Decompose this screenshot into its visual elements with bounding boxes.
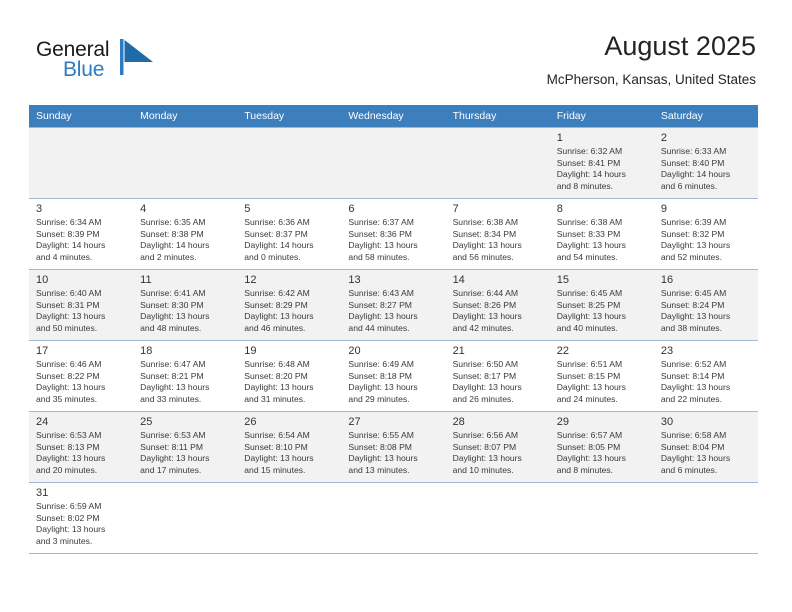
day-cell-content <box>654 483 758 553</box>
calendar-day-cell[interactable]: 25Sunrise: 6:53 AM Sunset: 8:11 PM Dayli… <box>133 412 237 483</box>
day-number: 27 <box>348 415 439 429</box>
day-number: 22 <box>557 344 648 358</box>
calendar-empty-cell <box>341 128 445 199</box>
day-cell-content: 14Sunrise: 6:44 AM Sunset: 8:26 PM Dayli… <box>446 270 550 340</box>
day-number: 7 <box>453 202 544 216</box>
day-cell-content: 17Sunrise: 6:46 AM Sunset: 8:22 PM Dayli… <box>29 341 133 411</box>
day-cell-content: 28Sunrise: 6:56 AM Sunset: 8:07 PM Dayli… <box>446 412 550 482</box>
day-number: 3 <box>36 202 127 216</box>
day-number: 20 <box>348 344 439 358</box>
weekday-header-tuesday: Tuesday <box>237 105 341 128</box>
day-cell-content: 29Sunrise: 6:57 AM Sunset: 8:05 PM Dayli… <box>550 412 654 482</box>
day-cell-content: 10Sunrise: 6:40 AM Sunset: 8:31 PM Dayli… <box>29 270 133 340</box>
day-cell-content <box>446 483 550 553</box>
day-number: 29 <box>557 415 648 429</box>
calendar-day-cell[interactable]: 31Sunrise: 6:59 AM Sunset: 8:02 PM Dayli… <box>29 483 133 554</box>
day-sun-times: Sunrise: 6:39 AM Sunset: 8:32 PM Dayligh… <box>661 217 752 263</box>
day-cell-content <box>133 483 237 553</box>
day-cell-content: 27Sunrise: 6:55 AM Sunset: 8:08 PM Dayli… <box>341 412 445 482</box>
calendar-day-cell[interactable]: 6Sunrise: 6:37 AM Sunset: 8:36 PM Daylig… <box>341 199 445 270</box>
calendar-empty-cell <box>550 483 654 554</box>
day-number: 18 <box>140 344 231 358</box>
calendar-page: General Blue August 2025 McPherson, Kans… <box>0 0 792 612</box>
day-number: 21 <box>453 344 544 358</box>
calendar-day-cell[interactable]: 13Sunrise: 6:43 AM Sunset: 8:27 PM Dayli… <box>341 270 445 341</box>
calendar-day-cell[interactable]: 24Sunrise: 6:53 AM Sunset: 8:13 PM Dayli… <box>29 412 133 483</box>
day-sun-times: Sunrise: 6:49 AM Sunset: 8:18 PM Dayligh… <box>348 359 439 405</box>
day-cell-content: 31Sunrise: 6:59 AM Sunset: 8:02 PM Dayli… <box>29 483 133 553</box>
calendar-day-cell[interactable]: 29Sunrise: 6:57 AM Sunset: 8:05 PM Dayli… <box>550 412 654 483</box>
day-sun-times: Sunrise: 6:43 AM Sunset: 8:27 PM Dayligh… <box>348 288 439 334</box>
day-cell-content: 24Sunrise: 6:53 AM Sunset: 8:13 PM Dayli… <box>29 412 133 482</box>
day-sun-times: Sunrise: 6:58 AM Sunset: 8:04 PM Dayligh… <box>661 430 752 476</box>
day-sun-times: Sunrise: 6:38 AM Sunset: 8:33 PM Dayligh… <box>557 217 648 263</box>
day-cell-content: 26Sunrise: 6:54 AM Sunset: 8:10 PM Dayli… <box>237 412 341 482</box>
day-cell-content <box>446 128 550 198</box>
calendar-day-cell[interactable]: 2Sunrise: 6:33 AM Sunset: 8:40 PM Daylig… <box>654 128 758 199</box>
day-sun-times: Sunrise: 6:54 AM Sunset: 8:10 PM Dayligh… <box>244 430 335 476</box>
day-cell-content <box>237 483 341 553</box>
day-sun-times: Sunrise: 6:56 AM Sunset: 8:07 PM Dayligh… <box>453 430 544 476</box>
day-number: 16 <box>661 273 752 287</box>
day-sun-times: Sunrise: 6:55 AM Sunset: 8:08 PM Dayligh… <box>348 430 439 476</box>
calendar-day-cell[interactable]: 10Sunrise: 6:40 AM Sunset: 8:31 PM Dayli… <box>29 270 133 341</box>
day-number: 23 <box>661 344 752 358</box>
calendar-empty-cell <box>133 128 237 199</box>
day-number: 28 <box>453 415 544 429</box>
page-subtitle: McPherson, Kansas, United States <box>547 70 756 90</box>
day-cell-content: 16Sunrise: 6:45 AM Sunset: 8:24 PM Dayli… <box>654 270 758 340</box>
day-cell-content <box>237 128 341 198</box>
day-cell-content: 13Sunrise: 6:43 AM Sunset: 8:27 PM Dayli… <box>341 270 445 340</box>
calendar-day-cell[interactable]: 11Sunrise: 6:41 AM Sunset: 8:30 PM Dayli… <box>133 270 237 341</box>
day-number: 8 <box>557 202 648 216</box>
page-header: General Blue August 2025 McPherson, Kans… <box>36 30 756 100</box>
day-cell-content: 3Sunrise: 6:34 AM Sunset: 8:39 PM Daylig… <box>29 199 133 269</box>
calendar-day-cell[interactable]: 15Sunrise: 6:45 AM Sunset: 8:25 PM Dayli… <box>550 270 654 341</box>
day-number: 26 <box>244 415 335 429</box>
calendar-empty-cell <box>133 483 237 554</box>
day-cell-content: 19Sunrise: 6:48 AM Sunset: 8:20 PM Dayli… <box>237 341 341 411</box>
calendar-week-row: 17Sunrise: 6:46 AM Sunset: 8:22 PM Dayli… <box>29 341 758 412</box>
day-cell-content: 30Sunrise: 6:58 AM Sunset: 8:04 PM Dayli… <box>654 412 758 482</box>
calendar-day-cell[interactable]: 3Sunrise: 6:34 AM Sunset: 8:39 PM Daylig… <box>29 199 133 270</box>
day-cell-content: 1Sunrise: 6:32 AM Sunset: 8:41 PM Daylig… <box>550 128 654 198</box>
day-sun-times: Sunrise: 6:45 AM Sunset: 8:25 PM Dayligh… <box>557 288 648 334</box>
calendar-empty-cell <box>446 483 550 554</box>
calendar-day-cell[interactable]: 1Sunrise: 6:32 AM Sunset: 8:41 PM Daylig… <box>550 128 654 199</box>
calendar-day-cell[interactable]: 14Sunrise: 6:44 AM Sunset: 8:26 PM Dayli… <box>446 270 550 341</box>
calendar-empty-cell <box>237 128 341 199</box>
day-number: 19 <box>244 344 335 358</box>
day-number: 5 <box>244 202 335 216</box>
calendar-week-row: 24Sunrise: 6:53 AM Sunset: 8:13 PM Dayli… <box>29 412 758 483</box>
day-sun-times: Sunrise: 6:37 AM Sunset: 8:36 PM Dayligh… <box>348 217 439 263</box>
day-sun-times: Sunrise: 6:53 AM Sunset: 8:13 PM Dayligh… <box>36 430 127 476</box>
day-sun-times: Sunrise: 6:40 AM Sunset: 8:31 PM Dayligh… <box>36 288 127 334</box>
day-sun-times: Sunrise: 6:50 AM Sunset: 8:17 PM Dayligh… <box>453 359 544 405</box>
calendar-week-row: 10Sunrise: 6:40 AM Sunset: 8:31 PM Dayli… <box>29 270 758 341</box>
day-number: 1 <box>557 131 648 145</box>
day-number: 4 <box>140 202 231 216</box>
day-sun-times: Sunrise: 6:59 AM Sunset: 8:02 PM Dayligh… <box>36 501 127 547</box>
day-cell-content: 23Sunrise: 6:52 AM Sunset: 8:14 PM Dayli… <box>654 341 758 411</box>
weekday-header-friday: Friday <box>550 105 654 128</box>
page-title: August 2025 <box>547 30 756 62</box>
calendar-day-cell[interactable]: 4Sunrise: 6:35 AM Sunset: 8:38 PM Daylig… <box>133 199 237 270</box>
weekday-header-monday: Monday <box>133 105 237 128</box>
day-sun-times: Sunrise: 6:42 AM Sunset: 8:29 PM Dayligh… <box>244 288 335 334</box>
day-cell-content: 12Sunrise: 6:42 AM Sunset: 8:29 PM Dayli… <box>237 270 341 340</box>
day-number: 13 <box>348 273 439 287</box>
title-block: August 2025 McPherson, Kansas, United St… <box>547 30 756 90</box>
calendar-day-cell[interactable]: 17Sunrise: 6:46 AM Sunset: 8:22 PM Dayli… <box>29 341 133 412</box>
calendar-day-cell[interactable]: 23Sunrise: 6:52 AM Sunset: 8:14 PM Dayli… <box>654 341 758 412</box>
day-cell-content: 5Sunrise: 6:36 AM Sunset: 8:37 PM Daylig… <box>237 199 341 269</box>
day-cell-content <box>29 128 133 198</box>
day-cell-content: 11Sunrise: 6:41 AM Sunset: 8:30 PM Dayli… <box>133 270 237 340</box>
calendar-empty-cell <box>654 483 758 554</box>
calendar-day-cell[interactable]: 5Sunrise: 6:36 AM Sunset: 8:37 PM Daylig… <box>237 199 341 270</box>
day-cell-content: 25Sunrise: 6:53 AM Sunset: 8:11 PM Dayli… <box>133 412 237 482</box>
calendar-empty-cell <box>446 128 550 199</box>
calendar-day-cell[interactable]: 7Sunrise: 6:38 AM Sunset: 8:34 PM Daylig… <box>446 199 550 270</box>
day-number: 17 <box>36 344 127 358</box>
calendar-empty-cell <box>341 483 445 554</box>
day-number: 10 <box>36 273 127 287</box>
day-number: 9 <box>661 202 752 216</box>
day-sun-times: Sunrise: 6:38 AM Sunset: 8:34 PM Dayligh… <box>453 217 544 263</box>
calendar-header-row: Sunday Monday Tuesday Wednesday Thursday… <box>29 105 758 128</box>
weekday-header-saturday: Saturday <box>654 105 758 128</box>
day-cell-content: 21Sunrise: 6:50 AM Sunset: 8:17 PM Dayli… <box>446 341 550 411</box>
day-sun-times: Sunrise: 6:41 AM Sunset: 8:30 PM Dayligh… <box>140 288 231 334</box>
calendar-day-cell[interactable]: 22Sunrise: 6:51 AM Sunset: 8:15 PM Dayli… <box>550 341 654 412</box>
day-sun-times: Sunrise: 6:36 AM Sunset: 8:37 PM Dayligh… <box>244 217 335 263</box>
day-number: 14 <box>453 273 544 287</box>
day-sun-times: Sunrise: 6:35 AM Sunset: 8:38 PM Dayligh… <box>140 217 231 263</box>
sun-times-calendar: Sunday Monday Tuesday Wednesday Thursday… <box>29 105 758 554</box>
calendar-empty-cell <box>237 483 341 554</box>
logo-text-blue: Blue <box>63 58 104 82</box>
day-cell-content <box>341 128 445 198</box>
calendar-week-row: 3Sunrise: 6:34 AM Sunset: 8:39 PM Daylig… <box>29 199 758 270</box>
weekday-header-thursday: Thursday <box>446 105 550 128</box>
calendar-day-cell[interactable]: 16Sunrise: 6:45 AM Sunset: 8:24 PM Dayli… <box>654 270 758 341</box>
day-sun-times: Sunrise: 6:33 AM Sunset: 8:40 PM Dayligh… <box>661 146 752 192</box>
day-number: 12 <box>244 273 335 287</box>
day-number: 11 <box>140 273 231 287</box>
day-sun-times: Sunrise: 6:47 AM Sunset: 8:21 PM Dayligh… <box>140 359 231 405</box>
calendar-day-cell[interactable]: 21Sunrise: 6:50 AM Sunset: 8:17 PM Dayli… <box>446 341 550 412</box>
day-sun-times: Sunrise: 6:32 AM Sunset: 8:41 PM Dayligh… <box>557 146 648 192</box>
calendar-week-row: 31Sunrise: 6:59 AM Sunset: 8:02 PM Dayli… <box>29 483 758 554</box>
day-number: 15 <box>557 273 648 287</box>
day-sun-times: Sunrise: 6:34 AM Sunset: 8:39 PM Dayligh… <box>36 217 127 263</box>
calendar-day-cell[interactable]: 26Sunrise: 6:54 AM Sunset: 8:10 PM Dayli… <box>237 412 341 483</box>
blue-flag-triangle-icon <box>120 39 154 75</box>
day-number: 30 <box>661 415 752 429</box>
day-sun-times: Sunrise: 6:45 AM Sunset: 8:24 PM Dayligh… <box>661 288 752 334</box>
day-sun-times: Sunrise: 6:51 AM Sunset: 8:15 PM Dayligh… <box>557 359 648 405</box>
day-cell-content: 9Sunrise: 6:39 AM Sunset: 8:32 PM Daylig… <box>654 199 758 269</box>
weekday-header-wednesday: Wednesday <box>341 105 445 128</box>
general-blue-logo[interactable]: General Blue <box>36 38 166 86</box>
weekday-header-sunday: Sunday <box>29 105 133 128</box>
calendar-empty-cell <box>29 128 133 199</box>
day-number: 24 <box>36 415 127 429</box>
day-sun-times: Sunrise: 6:44 AM Sunset: 8:26 PM Dayligh… <box>453 288 544 334</box>
day-cell-content: 15Sunrise: 6:45 AM Sunset: 8:25 PM Dayli… <box>550 270 654 340</box>
day-cell-content: 4Sunrise: 6:35 AM Sunset: 8:38 PM Daylig… <box>133 199 237 269</box>
calendar-week-row: 1Sunrise: 6:32 AM Sunset: 8:41 PM Daylig… <box>29 128 758 199</box>
calendar-day-cell[interactable]: 19Sunrise: 6:48 AM Sunset: 8:20 PM Dayli… <box>237 341 341 412</box>
day-cell-content: 2Sunrise: 6:33 AM Sunset: 8:40 PM Daylig… <box>654 128 758 198</box>
day-cell-content <box>133 128 237 198</box>
day-sun-times: Sunrise: 6:57 AM Sunset: 8:05 PM Dayligh… <box>557 430 648 476</box>
day-sun-times: Sunrise: 6:48 AM Sunset: 8:20 PM Dayligh… <box>244 359 335 405</box>
day-sun-times: Sunrise: 6:52 AM Sunset: 8:14 PM Dayligh… <box>661 359 752 405</box>
day-number: 31 <box>36 486 127 500</box>
day-number: 6 <box>348 202 439 216</box>
day-sun-times: Sunrise: 6:53 AM Sunset: 8:11 PM Dayligh… <box>140 430 231 476</box>
calendar-day-cell[interactable]: 27Sunrise: 6:55 AM Sunset: 8:08 PM Dayli… <box>341 412 445 483</box>
calendar-day-cell[interactable]: 12Sunrise: 6:42 AM Sunset: 8:29 PM Dayli… <box>237 270 341 341</box>
day-cell-content <box>341 483 445 553</box>
calendar-day-cell[interactable]: 8Sunrise: 6:38 AM Sunset: 8:33 PM Daylig… <box>550 199 654 270</box>
day-cell-content: 8Sunrise: 6:38 AM Sunset: 8:33 PM Daylig… <box>550 199 654 269</box>
day-number: 2 <box>661 131 752 145</box>
day-cell-content: 22Sunrise: 6:51 AM Sunset: 8:15 PM Dayli… <box>550 341 654 411</box>
day-cell-content: 6Sunrise: 6:37 AM Sunset: 8:36 PM Daylig… <box>341 199 445 269</box>
calendar-day-cell[interactable]: 20Sunrise: 6:49 AM Sunset: 8:18 PM Dayli… <box>341 341 445 412</box>
day-cell-content: 20Sunrise: 6:49 AM Sunset: 8:18 PM Dayli… <box>341 341 445 411</box>
day-cell-content: 18Sunrise: 6:47 AM Sunset: 8:21 PM Dayli… <box>133 341 237 411</box>
calendar-body: 1Sunrise: 6:32 AM Sunset: 8:41 PM Daylig… <box>29 128 758 554</box>
day-number: 25 <box>140 415 231 429</box>
calendar-day-cell[interactable]: 9Sunrise: 6:39 AM Sunset: 8:32 PM Daylig… <box>654 199 758 270</box>
day-sun-times: Sunrise: 6:46 AM Sunset: 8:22 PM Dayligh… <box>36 359 127 405</box>
day-cell-content: 7Sunrise: 6:38 AM Sunset: 8:34 PM Daylig… <box>446 199 550 269</box>
calendar-day-cell[interactable]: 30Sunrise: 6:58 AM Sunset: 8:04 PM Dayli… <box>654 412 758 483</box>
day-cell-content <box>550 483 654 553</box>
calendar-day-cell[interactable]: 28Sunrise: 6:56 AM Sunset: 8:07 PM Dayli… <box>446 412 550 483</box>
calendar-day-cell[interactable]: 18Sunrise: 6:47 AM Sunset: 8:21 PM Dayli… <box>133 341 237 412</box>
